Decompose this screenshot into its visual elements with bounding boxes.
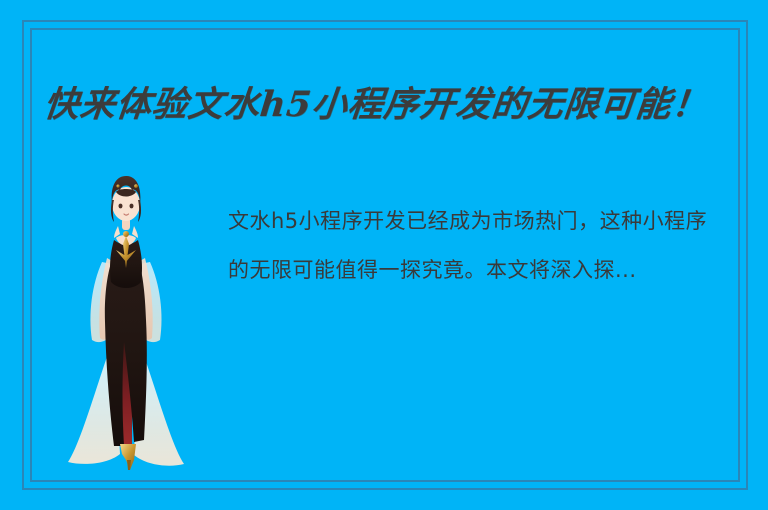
character-illustration xyxy=(58,162,192,472)
article-summary: 文水h5小程序开发已经成为市场热门，这种小程序的无限可能值得一探究竟。本文将深入… xyxy=(228,197,720,295)
article-card: 快来体验文水h5小程序开发的无限可能！ xyxy=(0,0,768,510)
article-headline: 快来体验文水h5小程序开发的无限可能！ xyxy=(41,80,736,130)
